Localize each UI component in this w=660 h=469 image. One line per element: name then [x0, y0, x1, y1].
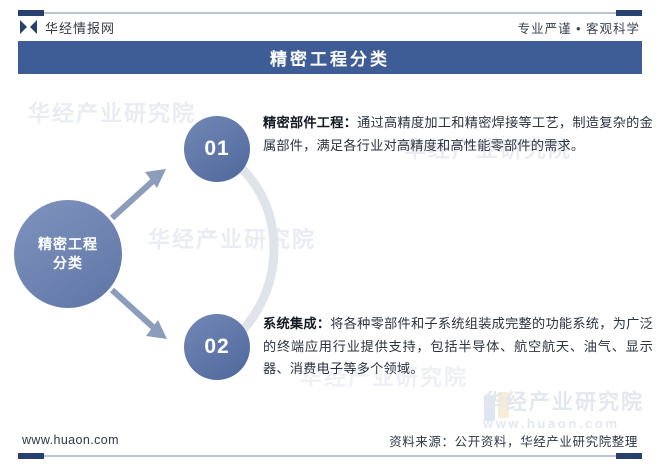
- arrow-to-node-01: [112, 169, 166, 218]
- bottom-divider-cap-right: [616, 453, 642, 459]
- book-logo-icon: [20, 20, 37, 35]
- node-01[interactable]: 01: [184, 116, 250, 182]
- description-01: 精密部件工程：通过高精度加工和精密焊接等工艺，制造复杂的金属部件，满足各行业对高…: [263, 112, 653, 157]
- header-slogan: 专业严谨 • 客观科学: [518, 18, 640, 37]
- slide-page: 华经产业研究院 华经产业研究院 华经产业研究院 华经产业研究院 华经产业研究院 …: [0, 0, 660, 469]
- node-02-number: 02: [204, 335, 229, 359]
- brand-name: 华经情报网: [45, 18, 115, 37]
- footer-source: 资料来源：公开资料，华经产业研究院整理: [389, 431, 638, 450]
- title-band: 精密工程分类: [18, 41, 642, 74]
- bottom-divider-cap-left: [18, 453, 44, 459]
- root-node-line2: 分类: [38, 254, 98, 273]
- page-header: 华经情报网 专业严谨 • 客观科学: [0, 14, 660, 40]
- footer-url[interactable]: www.huaon.com: [22, 433, 119, 447]
- root-node-line1: 精密工程: [38, 235, 98, 254]
- node-02[interactable]: 02: [184, 314, 250, 380]
- description-02: 系统集成：将各种零部件和子系统组装成完整的功能系统，为广泛的终端应用行业提供支持…: [263, 313, 653, 381]
- arrow-to-node-02: [112, 290, 167, 339]
- root-node[interactable]: 精密工程 分类: [14, 200, 122, 308]
- description-02-heading: 系统集成: [263, 316, 317, 331]
- description-02-separator: ：: [317, 316, 330, 331]
- node-01-number: 01: [204, 137, 229, 161]
- page-footer: www.huaon.com 资料来源：公开资料，华经产业研究院整理: [0, 429, 660, 451]
- brand: 华经情报网: [20, 18, 115, 37]
- description-01-separator: ：: [344, 115, 357, 130]
- page-title: 精密工程分类: [270, 45, 390, 70]
- bottom-divider: [18, 455, 642, 457]
- description-01-heading: 精密部件工程: [263, 115, 344, 130]
